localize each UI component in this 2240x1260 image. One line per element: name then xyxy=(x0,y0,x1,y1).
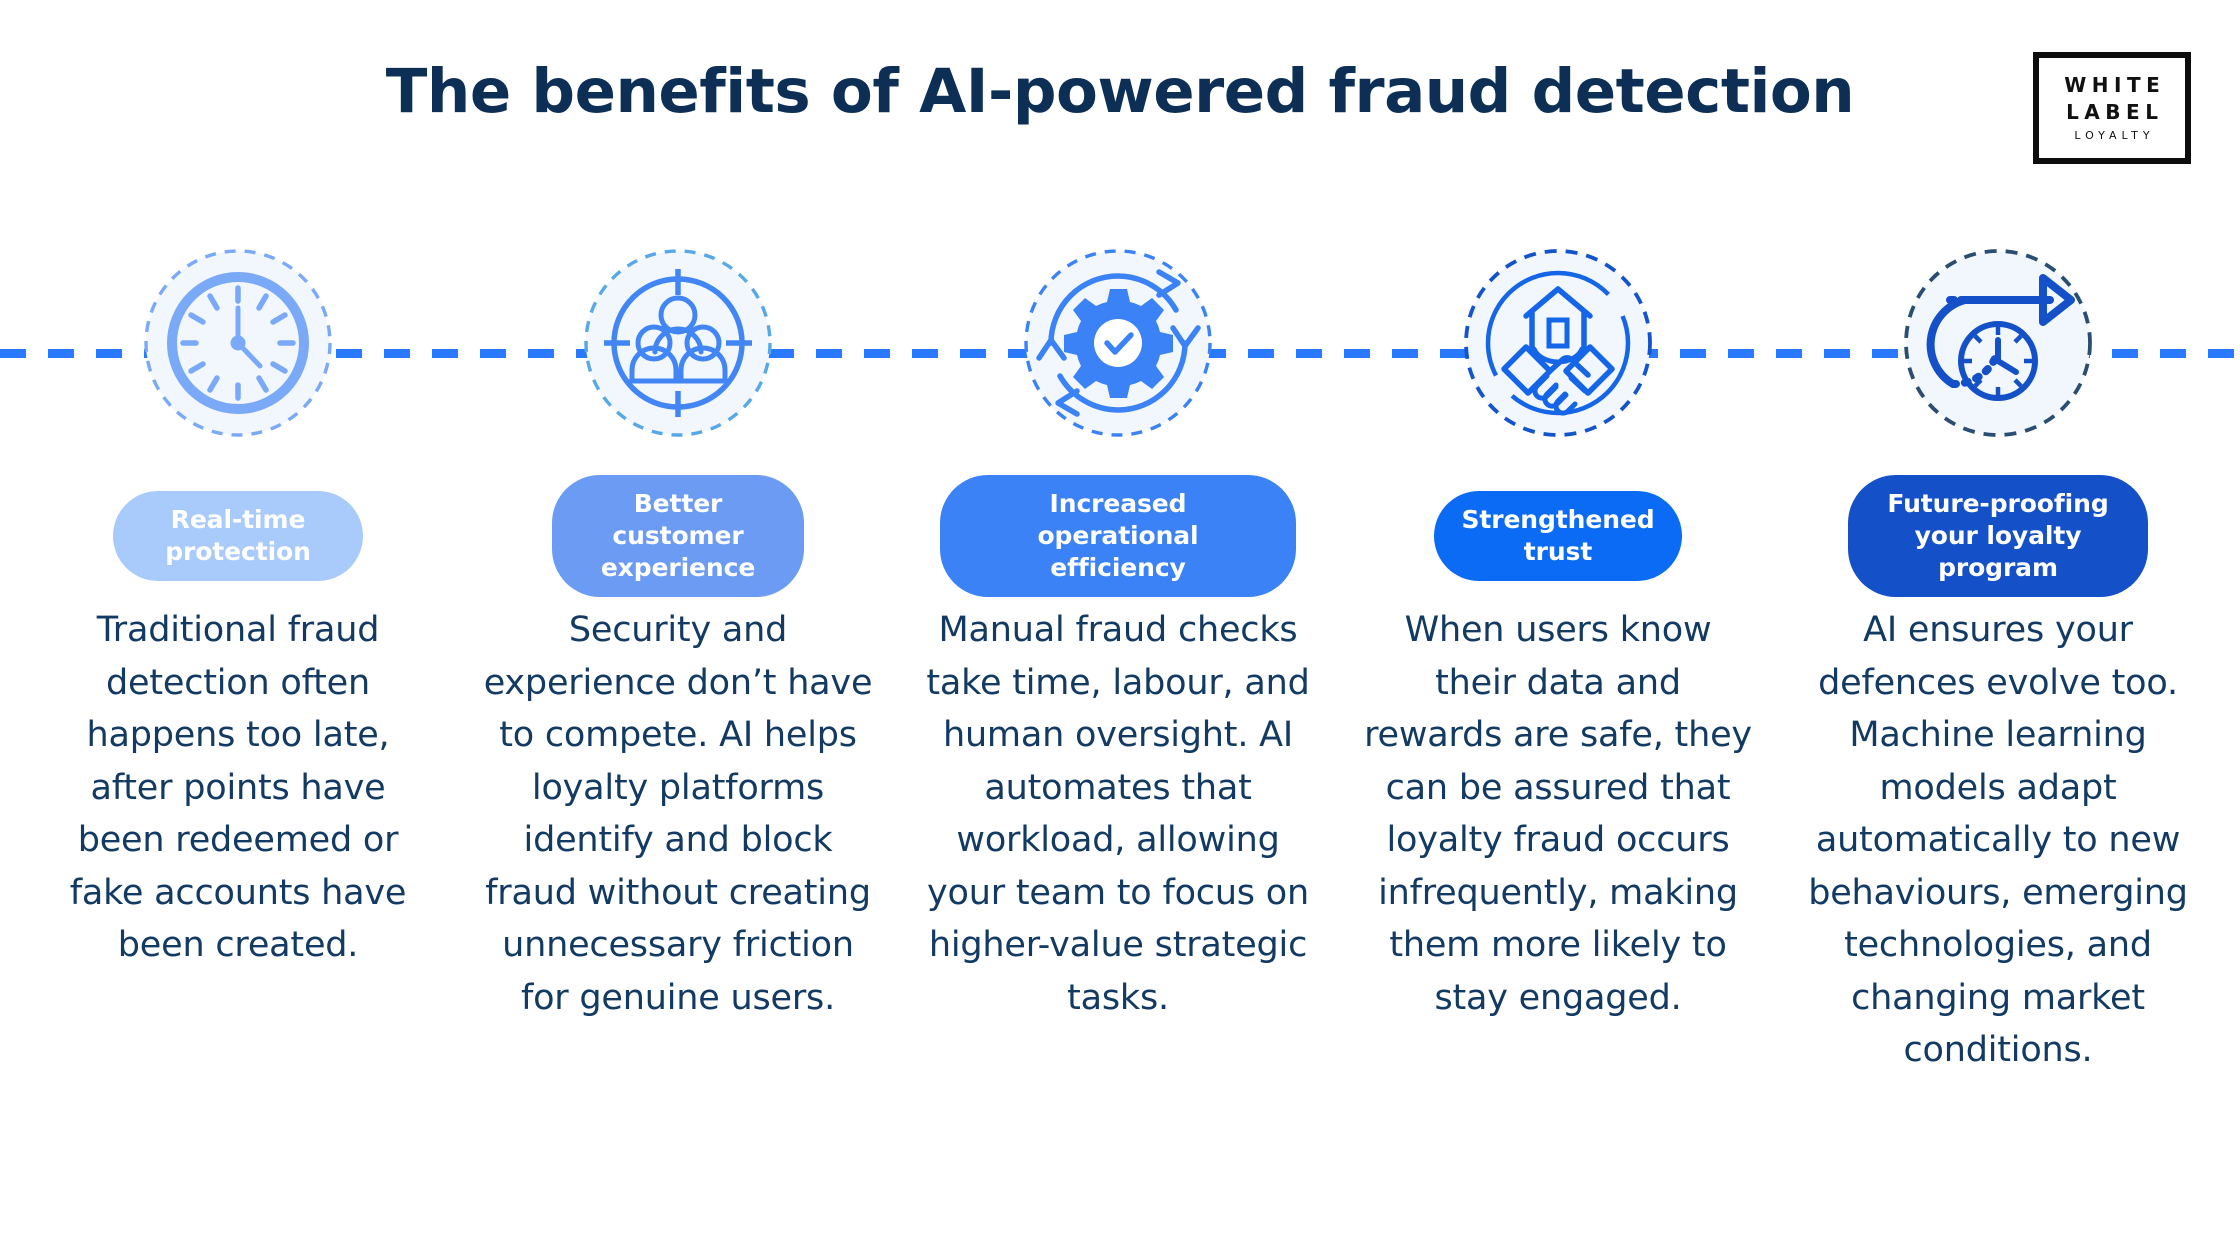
pill-slot-2: Increased operational efficiency xyxy=(898,490,1338,582)
pill-slot-1: Better customer experience xyxy=(458,490,898,582)
benefit-pill-real-time-protection[interactable]: Real-time protection xyxy=(113,491,363,581)
benefit-pill-increased-operational-efficiency[interactable]: Increased operational efficiency xyxy=(940,475,1296,597)
benefit-pill-strengthened-trust[interactable]: Strengthened trust xyxy=(1434,491,1682,581)
gear-check-refresh-icon xyxy=(1023,248,1213,438)
benefit-column-2: Increased operational efficiency Manual … xyxy=(898,0,1338,1260)
pill-slot-0: Real-time protection xyxy=(18,490,458,582)
pill-slot-4: Future-proofing your loyalty program xyxy=(1778,490,2218,582)
pill-slot-3: Strengthened trust xyxy=(1338,490,1778,582)
handshake-house-icon xyxy=(1463,248,1653,438)
benefit-body-3: When users know their data and rewards a… xyxy=(1362,604,1754,1024)
benefit-body-2: Manual fraud checks take time, labour, a… xyxy=(922,604,1314,1024)
benefit-column-0: Real-time protection Traditional fraud d… xyxy=(18,0,458,1260)
benefit-pill-better-customer-experience[interactable]: Better customer experience xyxy=(552,475,804,597)
benefit-column-3: Strengthened trust When users know their… xyxy=(1338,0,1778,1260)
benefit-body-0: Traditional fraud detection often happen… xyxy=(42,604,434,972)
benefit-body-1: Security and experience don’t have to co… xyxy=(482,604,874,1024)
target-people-icon xyxy=(583,248,773,438)
clock-icon xyxy=(143,248,333,438)
clock-forward-arrow-icon xyxy=(1903,248,2093,438)
benefit-column-4: Future-proofing your loyalty program AI … xyxy=(1778,0,2218,1260)
benefit-column-1: Better customer experience Security and … xyxy=(458,0,898,1260)
benefit-pill-future-proofing[interactable]: Future-proofing your loyalty program xyxy=(1848,475,2148,597)
benefit-body-4: AI ensures your defences evolve too. Mac… xyxy=(1802,604,2194,1077)
